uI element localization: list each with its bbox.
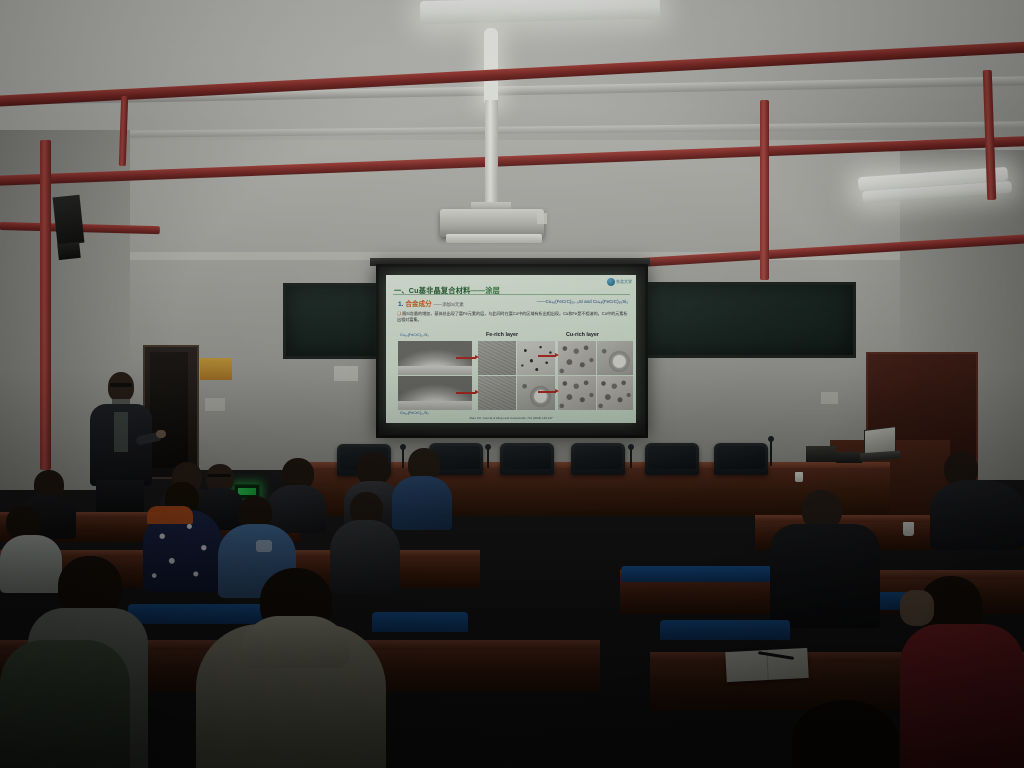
slide-caption-top: Cu₄₈(FeCrC)₅₀Si₂ [400, 333, 429, 337]
chair-back[interactable] [660, 620, 790, 640]
university-logo: 东北大学 [607, 278, 633, 286]
slide-bullet-text: ❑ 随Si含量的增加，基体处出现了富Fe元素的层，与此同时在富Cu中的区域有析出… [397, 311, 628, 323]
micrograph-cu-rich-c [558, 376, 596, 410]
hand [900, 590, 934, 626]
wall-poster [200, 358, 232, 380]
chair-back[interactable] [372, 612, 468, 632]
slide-title-row: 一、Cu基非晶复合材料——涂层 [394, 280, 630, 293]
slide-title-rule [393, 294, 630, 295]
arrow-indicator [456, 392, 476, 394]
micrograph-cu-rich-d [597, 376, 633, 410]
presenter-hand [156, 430, 166, 438]
blackboard-right [636, 282, 856, 358]
micrograph-fe-rich-a [478, 341, 516, 375]
slide-reference-citation: Zhao X.P. Journal of Alloys and Compound… [386, 416, 636, 420]
av-equipment [806, 446, 836, 462]
jacket-hood [240, 616, 350, 668]
vertical-pipe [760, 100, 769, 280]
micrograph-fe-rich-c [478, 376, 516, 410]
chair-back[interactable] [621, 566, 789, 582]
micrograph-fe-rich-d [517, 376, 555, 410]
presentation-slide: 一、Cu基非晶复合材料——涂层 东北大学 1. 合金成分 ——添加Si元素 ——… [386, 275, 636, 423]
projector-label-tag [537, 213, 547, 224]
desk-microphone [487, 448, 489, 468]
paper-cup [903, 522, 914, 536]
slide-label-cu-rich: Cu-rich layer [566, 332, 599, 338]
slide-section-heading: 1. 合金成分 ——添加Si元素 [398, 298, 464, 308]
fluorescent-tube-light-vertical [484, 28, 498, 106]
projector-base-plate [446, 234, 542, 243]
wall-plate [821, 392, 838, 404]
glasses-icon [207, 474, 231, 477]
desk-microphone [630, 448, 632, 468]
slide-caption-bottom: Cu₄₈(FeCrC)₅₀Si₂ [400, 411, 429, 415]
paper-cup [795, 472, 803, 482]
slide-label-fe-rich: Fe-rich layer [486, 332, 518, 338]
ceiling-projector [440, 209, 544, 237]
micrograph-fe-rich-b [517, 341, 555, 375]
arrow-indicator [456, 357, 476, 359]
slide-formula: ——Cu₄₈(FeCrC)₅₀₋ₓSi and Cu₄₈(FeCrC)₅₀Si₂ [537, 299, 628, 305]
audience-member [0, 640, 130, 768]
arrow-indicator [538, 391, 556, 393]
presenter-shirt [114, 412, 128, 452]
presenter-head [108, 372, 134, 402]
micrograph-cu-rich-a [558, 341, 596, 375]
projector-mount-pole [485, 100, 498, 208]
desk-monitor[interactable] [500, 443, 554, 475]
glasses-icon [110, 383, 132, 387]
jacket-logo [256, 540, 272, 552]
desk-microphone [770, 440, 772, 466]
desk-monitor[interactable] [714, 443, 768, 475]
lecture-hall-photo: 一、Cu基非晶复合材料——涂层 东北大学 1. 合金成分 ——添加Si元素 ——… [0, 0, 1024, 768]
wall-speaker-bracket [57, 242, 81, 260]
logo-text: 东北大学 [616, 279, 632, 285]
av-equipment [836, 452, 862, 463]
desk-monitor[interactable] [571, 443, 625, 475]
wall-speaker [53, 195, 85, 246]
desk-monitor[interactable] [645, 443, 699, 475]
presenter-legs [96, 480, 144, 514]
vertical-pipe [40, 140, 51, 470]
logo-circle-icon [607, 278, 615, 286]
micrograph-cu-rich-b [597, 341, 633, 375]
audience-member [770, 490, 880, 620]
audience-member [392, 448, 452, 524]
audience-member [196, 568, 386, 768]
jacket-collar [147, 506, 193, 524]
wall-control-panel[interactable] [334, 366, 358, 381]
audience-member [772, 700, 922, 768]
wall-plate [205, 398, 225, 411]
projection-screen: 一、Cu基非晶复合材料——涂层 东北大学 1. 合金成分 ——添加Si元素 ——… [376, 264, 648, 438]
audience-member [930, 452, 1024, 544]
arrow-indicator [538, 355, 556, 357]
